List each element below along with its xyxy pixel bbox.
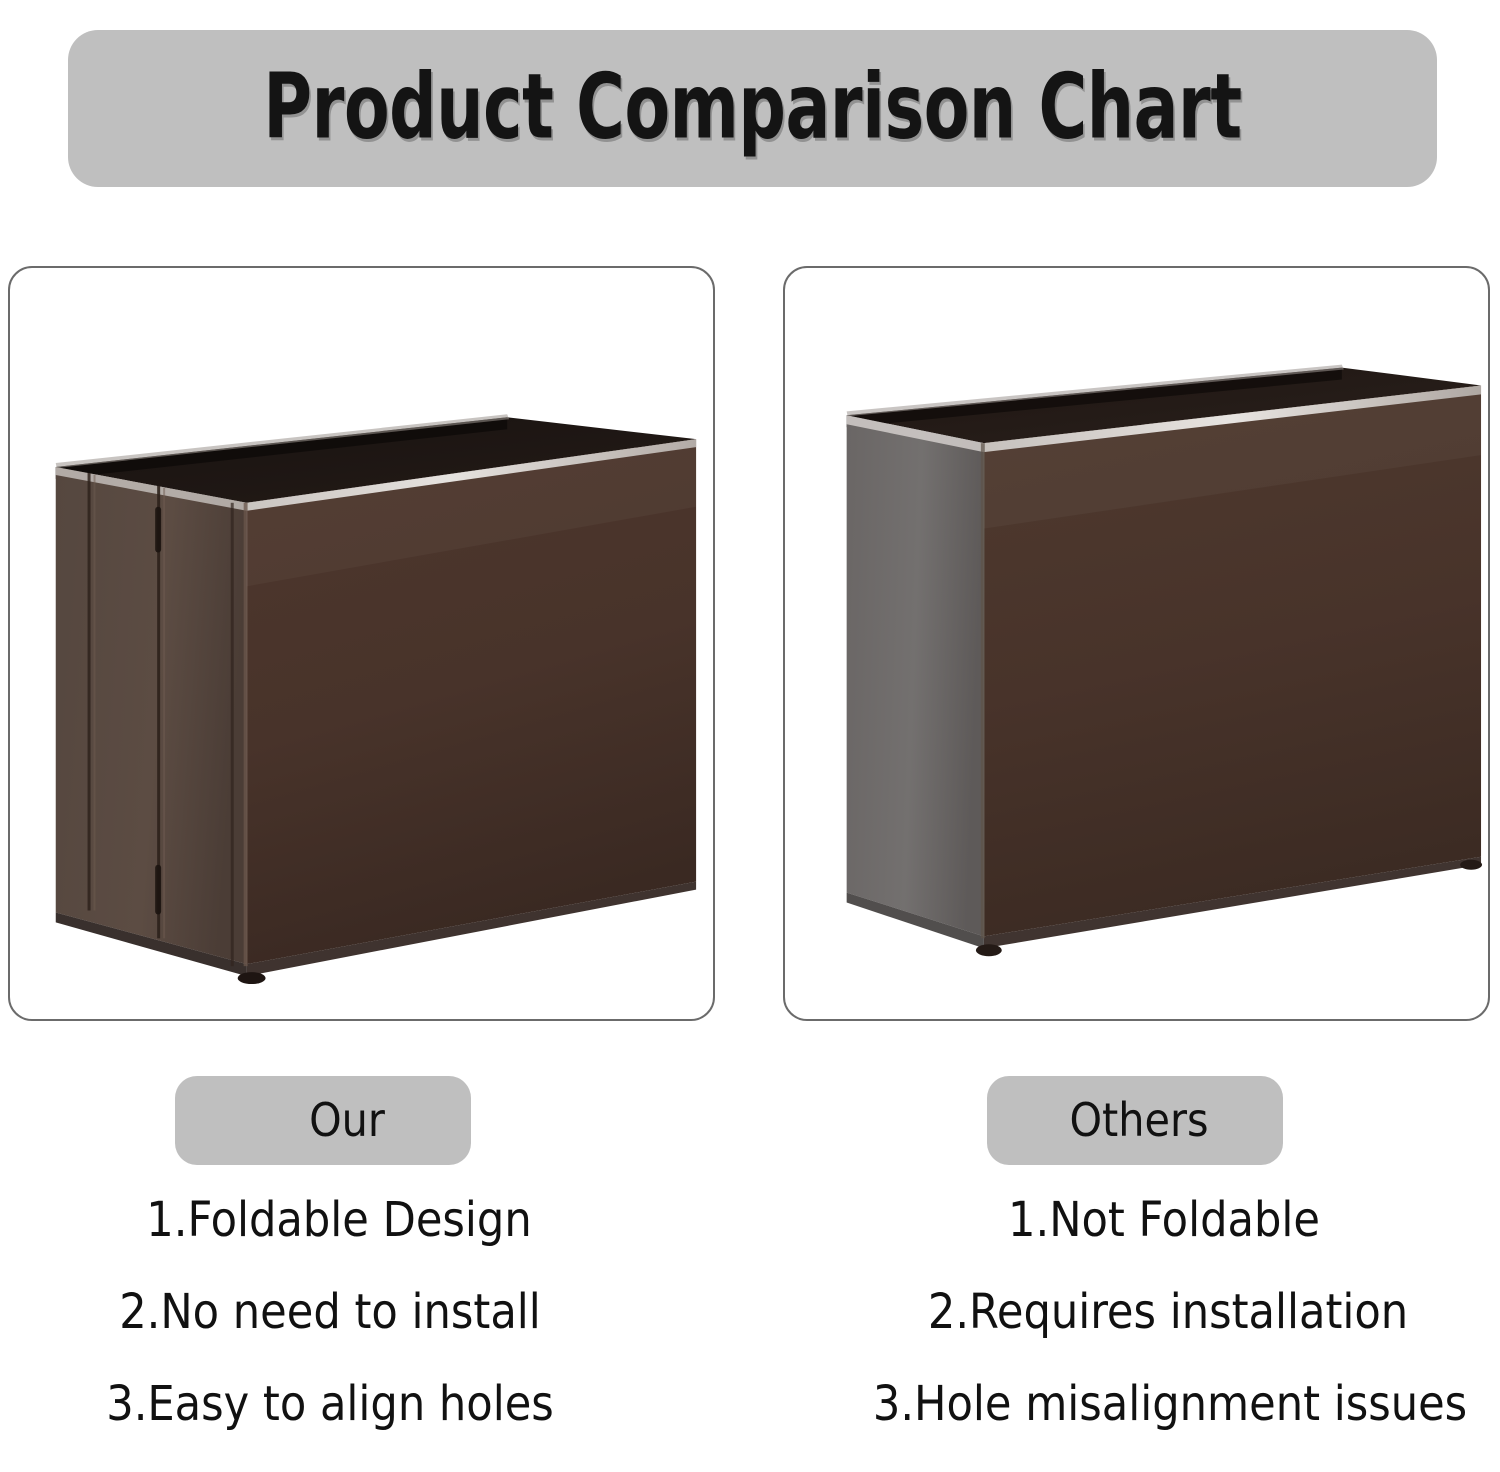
feature-item: 1.Not Foldable <box>830 1196 1490 1244</box>
product-card-others <box>783 266 1490 1021</box>
nonfoldable-planter-illustration <box>785 268 1488 1019</box>
feature-item: 2.No need to install <box>0 1288 660 1336</box>
fold-seam-1-highlight <box>94 475 96 911</box>
planter-end-panel <box>56 467 247 964</box>
page-title: Product Comparison Chart <box>68 54 1437 159</box>
feature-item: 1.Foldable Design <box>0 1196 660 1244</box>
page-title-text: Product Comparison Chart <box>263 54 1241 159</box>
badge-our-label: Our <box>175 1092 471 1146</box>
fold-seam-1 <box>88 473 91 911</box>
feature-item: 3.Easy to align holes <box>0 1380 660 1428</box>
planter-foot-left <box>976 944 1002 956</box>
feature-list-our: 1.Foldable Design 2.No need to install 3… <box>0 1196 660 1472</box>
planter-foot-right <box>1460 860 1482 870</box>
badge-others-label: Others <box>987 1092 1283 1146</box>
feature-list-others: 1.Not Foldable 2.Requires installation 3… <box>830 1196 1490 1472</box>
fold-seam-2-highlight <box>163 488 165 938</box>
product-card-our <box>8 266 715 1021</box>
title-banner: Product Comparison Chart <box>68 30 1437 187</box>
product-photo-others <box>785 268 1488 1019</box>
feature-item: 3.Hole misalignment issues <box>830 1380 1490 1428</box>
fold-hinge-top <box>155 507 161 553</box>
fold-hinge-bottom <box>155 865 161 915</box>
feature-item: 2.Requires installation <box>830 1288 1490 1336</box>
planter-end-panel <box>847 415 984 936</box>
foldable-planter-illustration <box>10 268 713 1019</box>
planter-foot <box>238 972 266 984</box>
product-photo-our <box>10 268 713 1019</box>
badge-our: Our <box>175 1076 471 1165</box>
fold-seam-3 <box>231 503 234 966</box>
badge-others: Others <box>987 1076 1283 1165</box>
